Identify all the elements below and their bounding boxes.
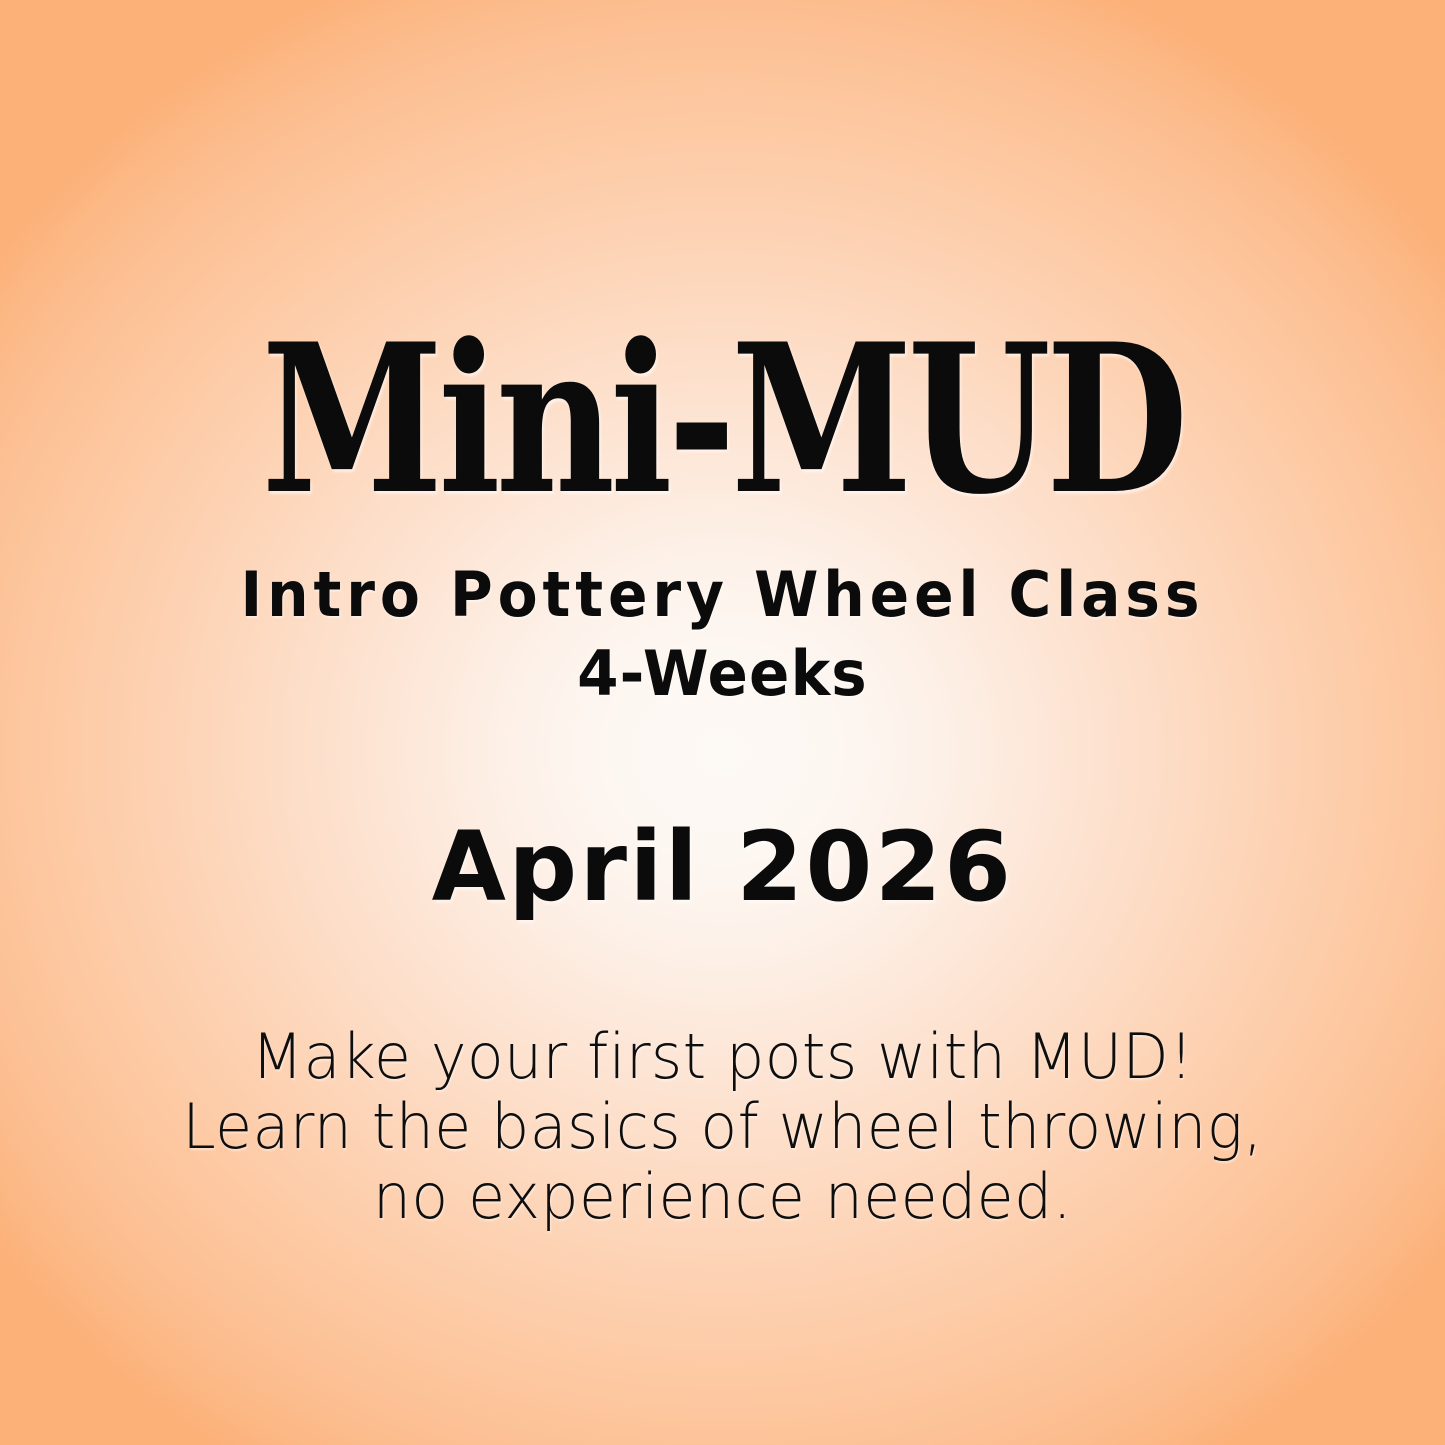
subtitle-line-2: 4-Weeks xyxy=(29,633,1416,715)
page-title: Mini-MUD xyxy=(145,318,1301,523)
description-line-3: no experience needed. xyxy=(22,1162,1424,1232)
subtitle-block: Intro Pottery Wheel Class 4-Weeks xyxy=(0,557,1445,715)
description-line-2: Learn the basics of wheel throwing, xyxy=(22,1092,1424,1162)
poster-canvas: Mini-MUD Intro Pottery Wheel Class 4-Wee… xyxy=(0,0,1445,1445)
subtitle-line-1: Intro Pottery Wheel Class xyxy=(43,557,1401,633)
poster-content: Mini-MUD Intro Pottery Wheel Class 4-Wee… xyxy=(0,0,1445,1445)
class-date: April 2026 xyxy=(0,812,1445,922)
description-line-1: Make your first pots with MUD! xyxy=(22,1022,1424,1092)
description-block: Make your first pots with MUD! Learn the… xyxy=(0,1022,1445,1232)
